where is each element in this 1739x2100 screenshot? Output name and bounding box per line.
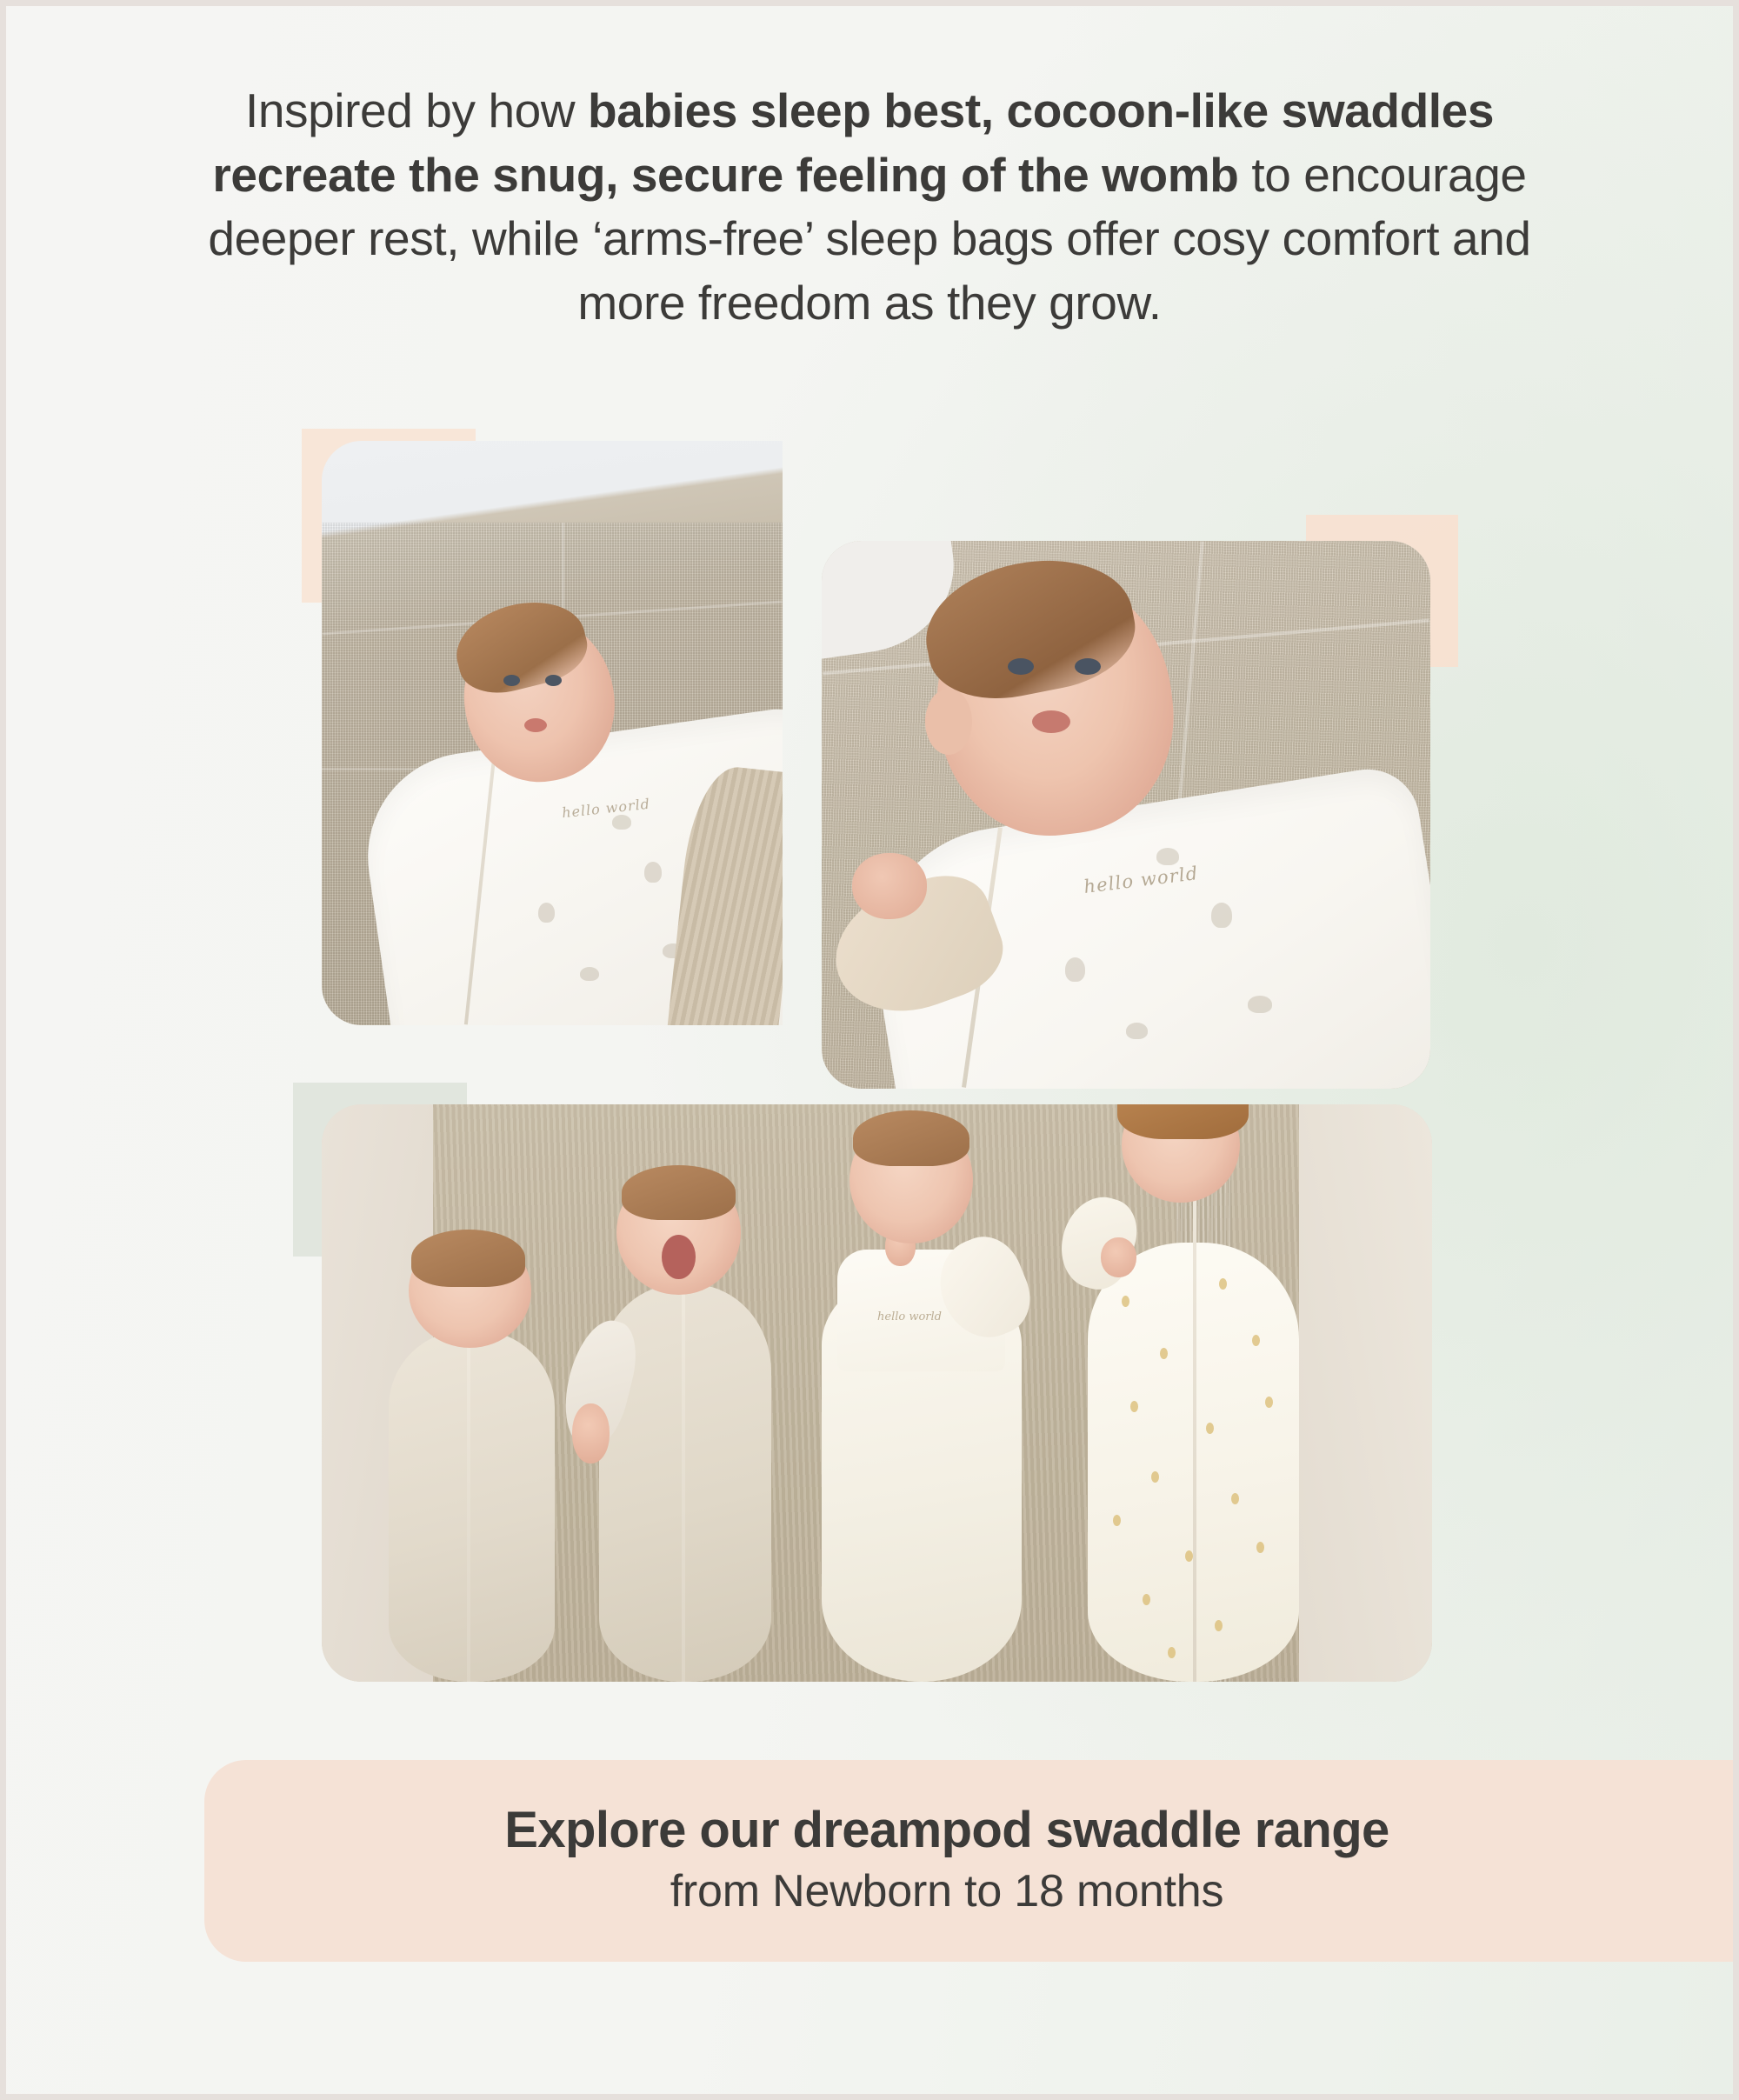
photo1-embroidery-motif-e — [580, 967, 599, 981]
photo3-baby2-zip — [682, 1284, 685, 1682]
photo1-baby-eye-right — [545, 675, 562, 686]
headline-text: Inspired by how babies sleep best, cocoo… — [163, 79, 1576, 336]
photo2-embroidery-motif-a — [1156, 848, 1179, 865]
photo3-baby-newborn-swaddle — [389, 1243, 556, 1682]
photo2-embroidery-motif-b — [1211, 903, 1232, 928]
photo1-embroidery-motif-a — [612, 815, 631, 830]
promo-page: Inspired by how babies sleep best, cocoo… — [0, 0, 1739, 2100]
headline-block: Inspired by how babies sleep best, cocoo… — [6, 79, 1733, 336]
photo3-baby1-hair — [411, 1230, 524, 1287]
headline-line-1-lead: Inspired by how — [245, 83, 588, 137]
banner-title: Explore our dreampod swaddle range — [504, 1803, 1389, 1859]
photo2-embroidery-motif-e — [1126, 1023, 1148, 1039]
photo1-embroidery-motif-b — [644, 862, 662, 883]
banner-subtitle: from Newborn to 18 months — [670, 1864, 1224, 1918]
photo3-baby3-hello-world-embroidery: hello world — [877, 1310, 942, 1323]
photo3-baby1-swaddle — [389, 1330, 556, 1682]
photo1-embroidery-motif-c — [538, 903, 555, 923]
photo2-baby-ear — [925, 689, 972, 755]
photo3-baby1-zip — [467, 1339, 470, 1682]
photo3-baby-sleep-bag-yawning — [599, 1185, 771, 1682]
photo2-embroidery-motif-c — [1065, 957, 1085, 982]
photo3-baby3-hair — [853, 1110, 969, 1166]
photo-four-babies-sleep-bag-range: hello world — [322, 1104, 1432, 1682]
photo2-baby-eye-left — [1008, 658, 1034, 675]
photo3-baby4-zip — [1193, 1128, 1196, 1682]
photo1-baby-eye-left — [503, 675, 520, 686]
explore-range-banner[interactable]: Explore our dreampod swaddle range from … — [204, 1760, 1739, 1962]
photo2-baby-eye-right — [1075, 658, 1101, 675]
photo3-baby4-hand — [1101, 1237, 1136, 1277]
photo2-embroidery-motif-d — [1248, 996, 1272, 1013]
photo2-baby-hand-left — [852, 853, 927, 919]
photo3-baby2-hand — [572, 1403, 610, 1463]
photo3-baby2-hair — [622, 1165, 736, 1220]
photo-newborn-swaddle-close-up: hello world — [822, 541, 1430, 1089]
photo3-baby2-open-mouth — [662, 1235, 696, 1279]
photo3-baby4-hair — [1117, 1104, 1248, 1139]
photo3-baby-printed-sleep-bag — [1088, 1104, 1299, 1682]
photo2-baby-mouth — [1032, 710, 1070, 733]
photo-newborn-swaddle-top-left: hello world — [322, 441, 783, 1025]
photo3-baby-muslin-sleep-bag: hello world — [822, 1128, 1022, 1682]
